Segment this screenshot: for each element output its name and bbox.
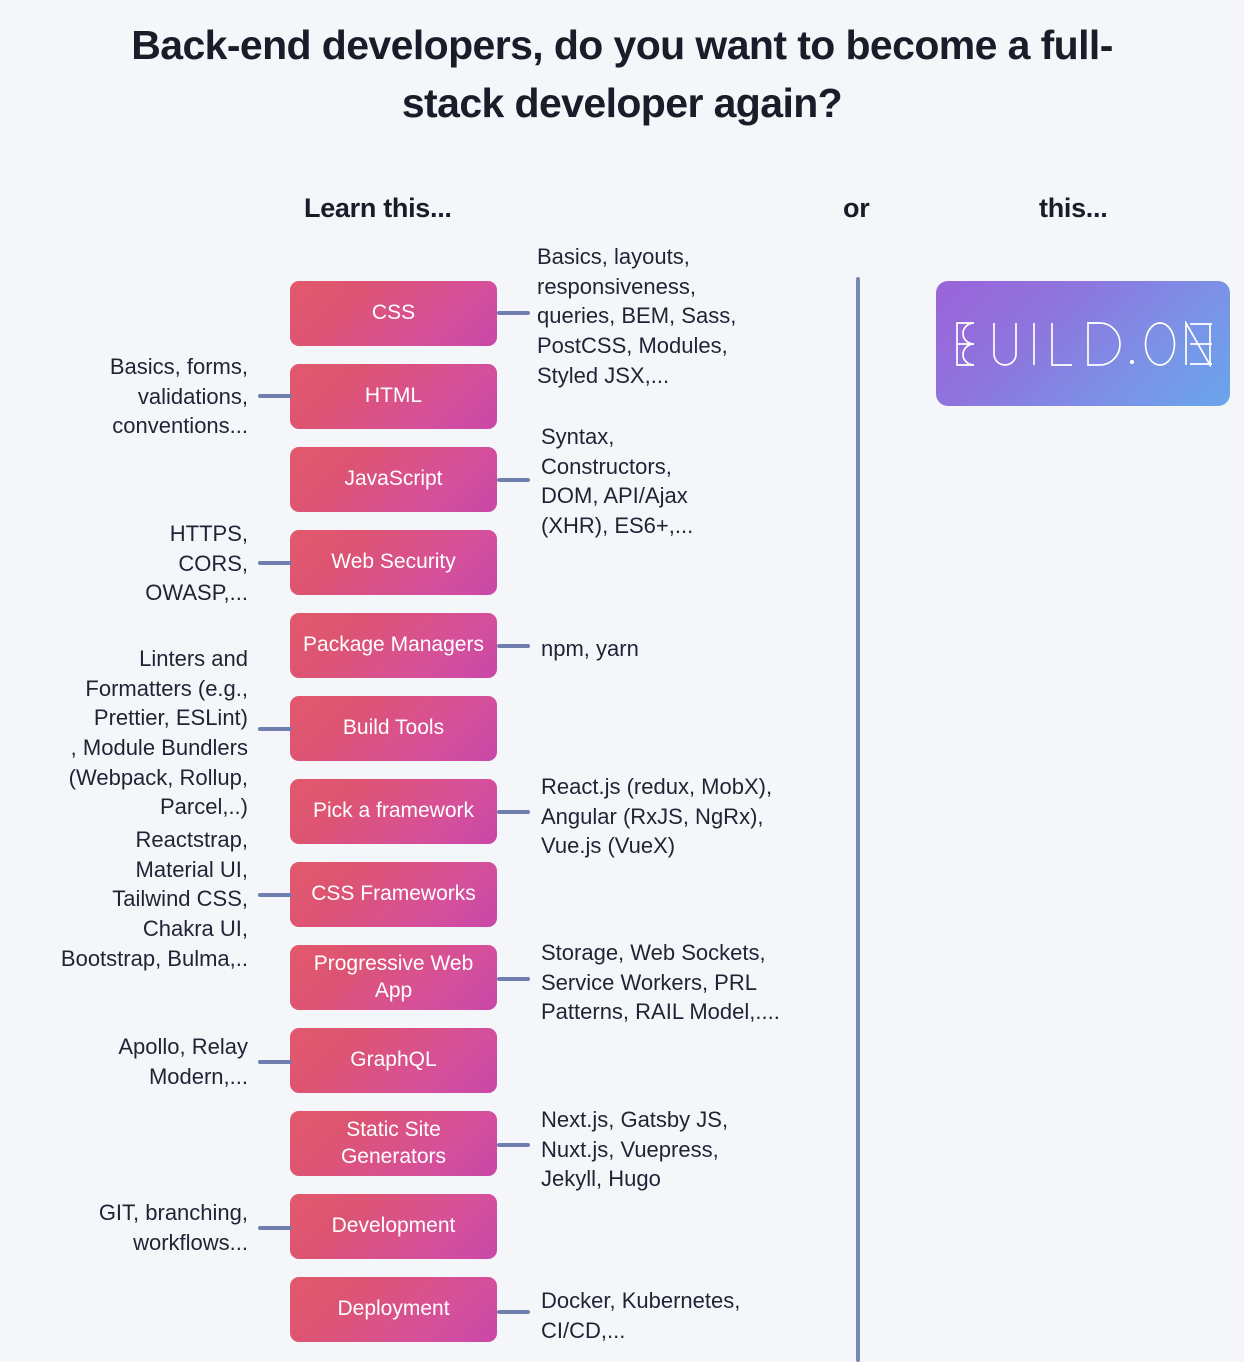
note-right-static-site-generators: Next.js, Gatsby JS, Nuxt.js, Vuepress, J… — [541, 1105, 851, 1194]
connector-right-deployment — [497, 1310, 530, 1314]
node-label: JavaScript — [344, 466, 442, 492]
node-development[interactable]: Development — [290, 1194, 497, 1259]
note-right-deployment: Docker, Kubernetes, CI/CD,... — [541, 1286, 851, 1345]
column-header-learn-this: Learn this... — [304, 193, 452, 224]
connector-right-progressive-web-app — [497, 977, 530, 981]
column-header-or: or — [843, 193, 869, 224]
node-package-managers[interactable]: Package Managers — [290, 613, 497, 678]
note-left-build-tools: Linters and Formatters (e.g., Prettier, … — [0, 644, 248, 822]
connector-right-pick-a-framework — [497, 810, 530, 814]
connector-right-package-managers — [497, 644, 530, 648]
vertical-divider — [856, 277, 860, 1362]
node-label: Static Site Generators — [298, 1117, 489, 1169]
note-right-progressive-web-app: Storage, Web Sockets, Service Workers, P… — [541, 938, 853, 1027]
connector-right-css — [497, 311, 530, 315]
connector-left-build-tools — [258, 727, 292, 731]
node-label: Package Managers — [303, 632, 484, 658]
node-progressive-web-app[interactable]: Progressive Web App — [290, 945, 497, 1010]
connector-left-html — [258, 394, 292, 398]
node-web-security[interactable]: Web Security — [290, 530, 497, 595]
note-right-pick-a-framework: React.js (redux, MobX), Angular (RxJS, N… — [541, 772, 851, 861]
note-left-html: Basics, forms, validations, conventions.… — [0, 352, 248, 441]
node-deployment[interactable]: Deployment — [290, 1277, 497, 1342]
node-static-site-generators[interactable]: Static Site Generators — [290, 1111, 497, 1176]
brand-card-buildone[interactable]: BUILD.ONE — [936, 281, 1230, 406]
node-label: Deployment — [337, 1296, 449, 1322]
node-html[interactable]: HTML — [290, 364, 497, 429]
page-title: Back-end developers, do you want to beco… — [0, 16, 1244, 132]
node-label: Build Tools — [343, 715, 444, 741]
node-label: Progressive Web App — [298, 951, 489, 1003]
node-label: GraphQL — [350, 1047, 436, 1073]
node-css[interactable]: CSS — [290, 281, 497, 346]
connector-right-static-site-generators — [497, 1143, 530, 1147]
connector-left-development — [258, 1226, 292, 1230]
node-label: Pick a framework — [313, 798, 474, 824]
connector-left-graphql — [258, 1060, 292, 1064]
node-label: CSS Frameworks — [311, 881, 476, 907]
node-graphql[interactable]: GraphQL — [290, 1028, 497, 1093]
note-left-css-frameworks: Reactstrap, Material UI, Tailwind CSS, C… — [0, 825, 248, 973]
node-javascript[interactable]: JavaScript — [290, 447, 497, 512]
note-right-javascript: Syntax, Constructors, DOM, API/Ajax (XHR… — [541, 422, 851, 541]
note-left-development: GIT, branching, workflows... — [0, 1198, 248, 1257]
buildone-logo-icon — [952, 321, 1214, 367]
connector-left-css-frameworks — [258, 893, 292, 897]
skills-stack: CSS HTML JavaScript Web Security Package… — [290, 281, 497, 1360]
note-left-web-security: HTTPS, CORS, OWASP,... — [0, 519, 248, 608]
infographic-root: Back-end developers, do you want to beco… — [0, 0, 1244, 1362]
node-label: Development — [332, 1213, 456, 1239]
note-right-package-managers: npm, yarn — [541, 634, 841, 664]
connector-left-web-security — [258, 561, 292, 565]
node-pick-a-framework[interactable]: Pick a framework — [290, 779, 497, 844]
note-right-css: Basics, layouts, responsiveness, queries… — [537, 242, 847, 390]
node-label: Web Security — [331, 549, 456, 575]
note-left-graphql: Apollo, Relay Modern,... — [0, 1032, 248, 1091]
column-header-this: this... — [1039, 193, 1107, 224]
node-label: CSS — [372, 300, 415, 326]
connector-right-javascript — [497, 478, 530, 482]
node-label: HTML — [365, 383, 422, 409]
node-css-frameworks[interactable]: CSS Frameworks — [290, 862, 497, 927]
node-build-tools[interactable]: Build Tools — [290, 696, 497, 761]
